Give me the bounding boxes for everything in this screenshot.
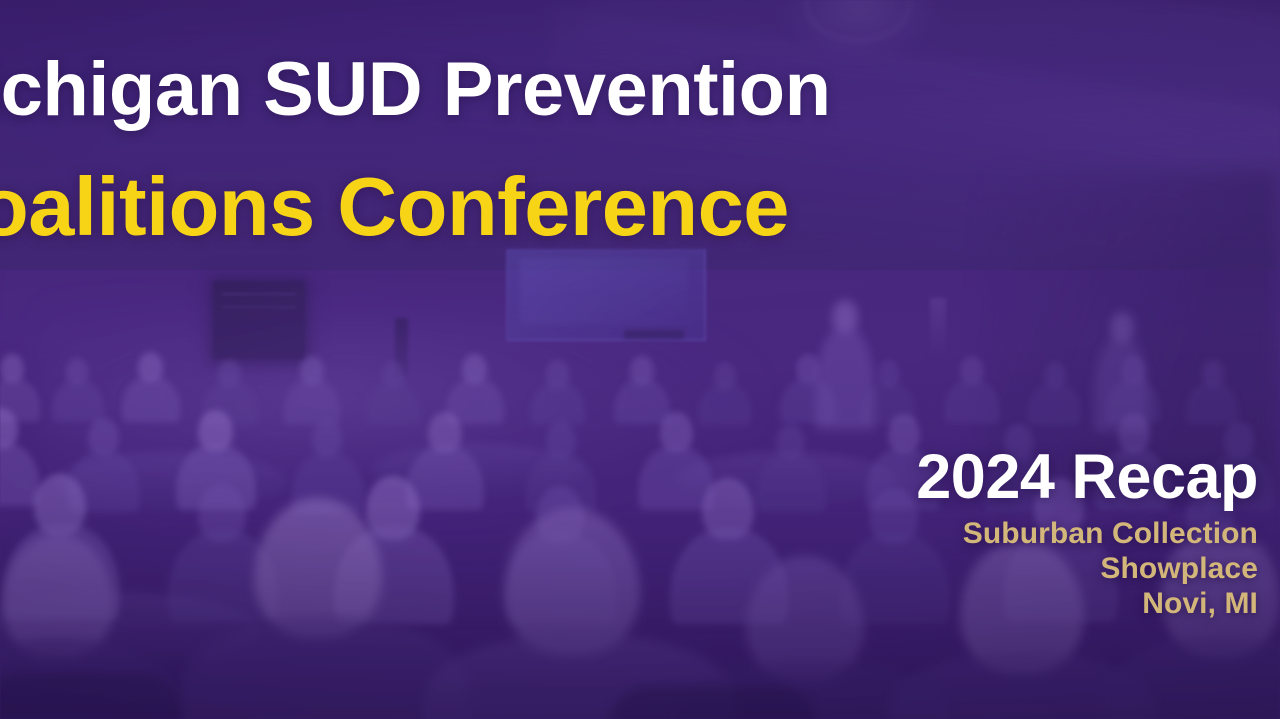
- banner-headline-line1: ichigan SUD Prevention: [0, 52, 831, 128]
- venue-line-2: Showplace: [916, 551, 1258, 586]
- banner-text-layer: ichigan SUD Prevention oalitions Confere…: [0, 0, 1280, 719]
- banner-headline-line2: oalitions Conference: [0, 165, 789, 248]
- venue-line-1: Suburban Collection: [916, 516, 1258, 551]
- venue-address: Suburban Collection Showplace Novi, MI: [916, 516, 1258, 621]
- recap-block: 2024 Recap Suburban Collection Showplace…: [916, 444, 1258, 621]
- recap-title: 2024 Recap: [916, 444, 1258, 510]
- conference-banner: ichigan SUD Prevention oalitions Confere…: [0, 0, 1280, 719]
- venue-line-3: Novi, MI: [916, 586, 1258, 621]
